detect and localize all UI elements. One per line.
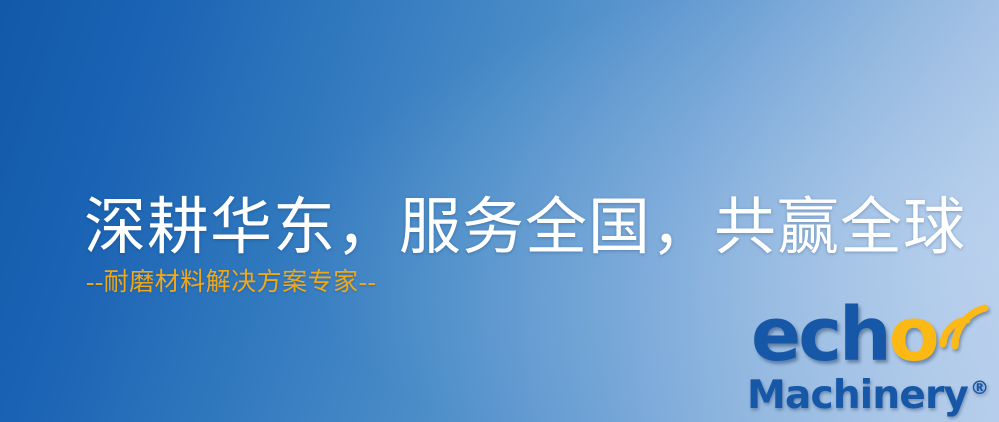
logo-tagline-text: Machinery [747,373,968,418]
signal-waves-icon [931,294,993,356]
logo-echo-text: echo [751,296,937,374]
logo-wordmark: echo [751,296,993,374]
banner-headline: 深耕华东，服务全国，共赢全球 [84,194,966,263]
banner-subtitle: --耐磨材料解决方案专家-- [86,268,376,298]
registered-trademark-icon: ® [970,377,989,399]
hero-banner: 深耕华东，服务全国，共赢全球 --耐磨材料解决方案专家-- echo Machi… [0,0,999,422]
logo-tagline: Machinery® [747,366,989,418]
company-logo[interactable]: echo Machinery® [741,288,993,420]
